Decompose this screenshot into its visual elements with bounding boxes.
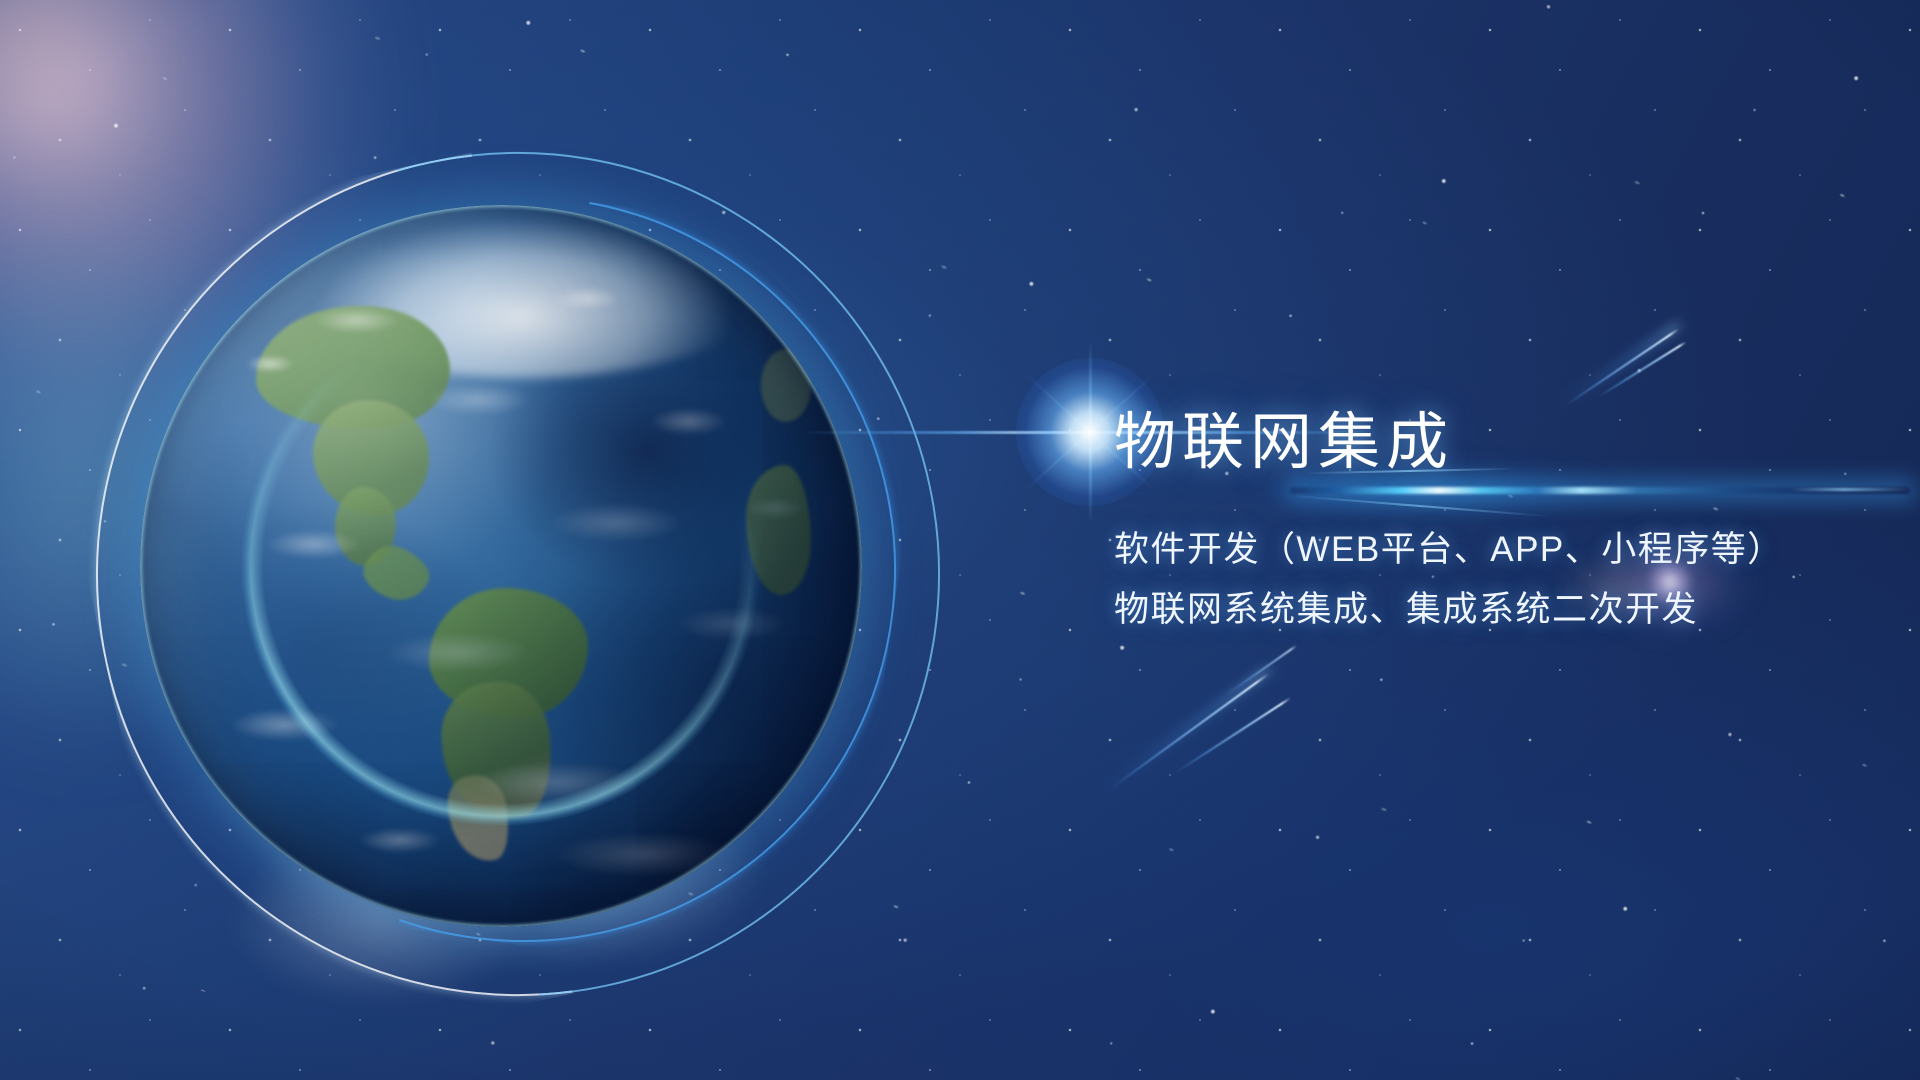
globe-sphere: [140, 205, 862, 927]
globe-limb-highlight: [140, 205, 862, 927]
banner-text-block: 物联网集成 软件开发（WEB平台、APP、小程序等） 物联网系统集成、集成系统二…: [1114, 412, 1874, 627]
earth-globe: [140, 205, 862, 927]
banner-subline-1: 软件开发（WEB平台、APP、小程序等）: [1114, 532, 1874, 567]
banner-headline: 物联网集成: [1114, 412, 1874, 474]
banner-subline-2: 物联网系统集成、集成系统二次开发: [1114, 592, 1874, 627]
hero-banner: 物联网集成 软件开发（WEB平台、APP、小程序等） 物联网系统集成、集成系统二…: [0, 0, 1920, 1080]
